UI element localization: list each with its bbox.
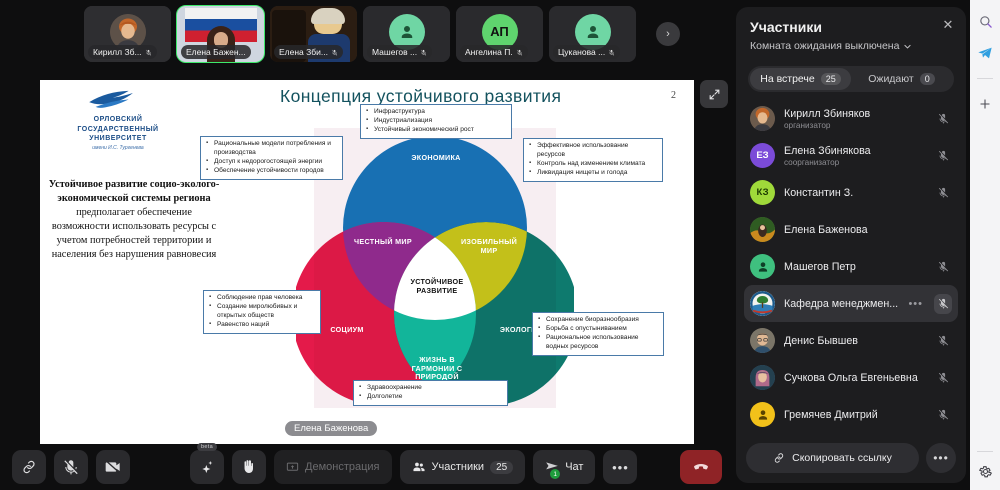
participant-row[interactable]: Сучкова Ольга Евгеньевна: [744, 359, 958, 396]
thumbnail-name-chip: Елена Бажен...: [181, 45, 251, 59]
tab-in-meeting-count: 25: [821, 73, 841, 85]
participant-mic-status[interactable]: [934, 187, 952, 198]
hand-icon: [241, 459, 257, 475]
participant-info: Гремячев Дмитрий: [784, 409, 925, 421]
participant-mic-status[interactable]: [934, 335, 952, 346]
logo-line-3: УНИВЕРСИТЕТ: [58, 134, 178, 144]
beta-badge: beta: [197, 443, 217, 451]
participant-info: Машегов Петр: [784, 261, 925, 273]
participant-info: Сучкова Ольга Евгеньевна: [784, 372, 925, 384]
participant-row[interactable]: Елена Баженова: [744, 211, 958, 248]
copy-link-label: Скопировать ссылку: [792, 452, 892, 464]
plus-glyph-icon: [978, 97, 992, 111]
participant-role: соорганизатор: [784, 158, 925, 167]
participants-button[interactable]: Участники 25: [400, 450, 526, 484]
telegram-glyph-icon: [977, 45, 993, 61]
screen-share-button[interactable]: Демонстрация: [274, 450, 392, 484]
bullet-list: Сохранение биоразнообразия Борьба с опус…: [537, 316, 659, 351]
avatar: [750, 217, 775, 242]
slide-box-society-bottom: Соблюдение прав человека Создание миролю…: [203, 290, 321, 334]
thumbnail-tile-active[interactable]: Елена Бажен...: [177, 6, 264, 62]
search-glyph-icon: [978, 14, 993, 29]
logo-line-4: имени И.С. Тургенева: [58, 145, 178, 151]
slide-left-text-bold: Устойчивое развитие социо-эколого-эконом…: [49, 179, 220, 204]
link-icon: [773, 452, 785, 464]
participants-panel-footer: Скопировать ссылку •••: [736, 435, 966, 483]
bullet-item: Устойчивый экономический рост: [365, 126, 507, 135]
participant-role: организатор: [784, 121, 925, 130]
photo-woman-icon: [750, 365, 775, 390]
link-icon: [21, 459, 37, 475]
participant-row[interactable]: Денис Бывшев: [744, 322, 958, 359]
logo-line-1: ОРЛОВСКИЙ: [58, 115, 178, 125]
thumbnail-tile[interactable]: Машегов ...: [363, 6, 450, 62]
tab-waiting[interactable]: Ожидают 0: [851, 68, 952, 90]
thumbnail-name-chip: Машегов ...: [367, 45, 432, 59]
thumbnail-name-chip: Ангелина П.: [460, 45, 528, 59]
participant-row[interactable]: КЗ Константин З.: [744, 174, 958, 211]
search-icon[interactable]: [976, 12, 994, 30]
logo-line-2: ГОСУДАРСТВЕННЫЙ: [58, 125, 178, 135]
hangup-icon: [692, 458, 710, 476]
participant-mic-status[interactable]: [934, 409, 952, 420]
thumbnail-name: Елена Зби...: [279, 47, 328, 57]
tab-waiting-label: Ожидают: [868, 73, 913, 85]
participant-info: Денис Бывшев: [784, 335, 925, 347]
presentation-stage: ОРЛОВСКИЙ ГОСУДАРСТВЕННЫЙ УНИВЕРСИТЕТ им…: [0, 68, 736, 444]
participant-info: Елена Збинякова соорганизатор: [784, 145, 925, 167]
bullet-item: Доступ к недорогостоящей энергии: [205, 158, 338, 167]
mic-off-icon: [938, 372, 949, 383]
person-icon: [398, 23, 416, 41]
tab-waiting-count: 0: [920, 73, 935, 85]
avatar: [750, 291, 775, 316]
avatar: [750, 365, 775, 390]
panel-more-button[interactable]: •••: [926, 443, 956, 473]
participant-name: Елена Баженова: [784, 224, 925, 236]
participant-mic-status[interactable]: [934, 261, 952, 272]
participant-info: Кафедра менеджмен...: [784, 298, 899, 310]
participants-panel-header: Участники Комната ожидания выключена ✕: [736, 7, 966, 58]
thumbnail-name-chip: Елена Зби...: [274, 45, 343, 59]
tab-in-meeting[interactable]: На встрече 25: [750, 68, 851, 90]
copy-link-button[interactable]: Скопировать ссылку: [746, 443, 919, 473]
bullet-item: Здравоохранение: [358, 384, 503, 393]
slide-box-society-left: Рациональные модели потребления и произв…: [200, 136, 343, 180]
chat-button[interactable]: 1 Чат: [533, 450, 595, 484]
slide-box-economy-top: Инфраструктура Индустриализация Устойчив…: [360, 104, 512, 139]
participant-mic-status[interactable]: [934, 150, 952, 161]
venn-label-economy: ЭКОНОМИКА: [401, 154, 471, 163]
gear-icon[interactable]: [976, 462, 994, 480]
bullet-list: Эффективное использование ресурсов Контр…: [528, 142, 658, 177]
rail-divider: [977, 451, 993, 452]
bullet-item: Эффективное использование ресурсов: [528, 142, 658, 159]
expand-fullscreen-button[interactable]: [700, 80, 728, 108]
venn-label-center: УСТОЙЧИВОЕ РАЗВИТИЕ: [397, 278, 477, 295]
mic-off-icon: [63, 459, 79, 475]
emblem-tree-icon: [750, 291, 775, 316]
thumbnail-tile[interactable]: АП Ангелина П.: [456, 6, 543, 62]
sparkle-icon: [199, 459, 215, 475]
telegram-icon[interactable]: [976, 44, 994, 62]
participant-mic-status[interactable]: [934, 113, 952, 124]
thumbnail-name-chip: Кирилл Зб...: [88, 45, 157, 59]
thumbnail-name: Елена Бажен...: [186, 47, 246, 57]
panel-title: Участники: [750, 19, 952, 35]
chevron-down-icon: [903, 42, 912, 51]
participant-name: Гремячев Дмитрий: [784, 409, 925, 421]
bullet-list: Рациональные модели потребления и произв…: [205, 140, 338, 175]
bullet-list: Инфраструктура Индустриализация Устойчив…: [365, 108, 507, 135]
participant-row[interactable]: Гремячев Дмитрий: [744, 396, 958, 433]
participant-name: Константин З.: [784, 187, 925, 199]
venn-label-abundant-world: ИЗОБИЛЬНЫЙ МИР: [458, 238, 520, 255]
meeting-control-bar: beta Демонстрация Участники 25 1: [0, 444, 736, 490]
shared-slide: ОРЛОВСКИЙ ГОСУДАРСТВЕННЫЙ УНИВЕРСИТЕТ им…: [40, 80, 694, 444]
bullet-item: Рациональные модели потребления и произв…: [205, 140, 338, 157]
app-root: Кирилл Зб... Елена Бажен...: [0, 0, 1000, 490]
participant-info: Елена Баженова: [784, 224, 925, 236]
photo-nature-icon: [750, 217, 775, 242]
tab-in-meeting-label: На встрече: [760, 73, 815, 85]
avatar: [750, 328, 775, 353]
avatar: [750, 254, 775, 279]
active-speaker-chip: Елена Баженова: [285, 421, 377, 436]
screen-share-label: Демонстрация: [305, 461, 380, 473]
bullet-item: Инфраструктура: [365, 108, 507, 117]
bullet-item: Индустриализация: [365, 117, 507, 126]
avatar-initials: КЗ: [750, 180, 775, 205]
participant-info: Кирилл Збиняков организатор: [784, 108, 925, 130]
slide-page-number: 2: [671, 90, 676, 101]
mic-off-icon: [331, 49, 338, 56]
avatar-initials-text: АП: [490, 24, 509, 39]
slide-left-text: Устойчивое развитие социо-эколого-эконом…: [48, 178, 220, 262]
participants-tabs: На встрече 25 Ожидают 0: [748, 66, 954, 92]
participant-row[interactable]: ЕЗ Елена Збинякова соорганизатор: [744, 137, 958, 174]
participants-icon: [412, 460, 426, 474]
bullet-item: Контроль над изменением климата: [528, 160, 658, 169]
bullet-item: Соблюдение прав человека: [208, 294, 316, 303]
bullet-item: Равенство наций: [208, 321, 316, 330]
bullet-item: Борьба с опустыниванием: [537, 325, 659, 334]
participants-list[interactable]: Кирилл Збиняков организатор ЕЗ Елена Зби…: [736, 98, 966, 435]
close-panel-button[interactable]: ✕: [940, 17, 956, 33]
screen-share-icon: [286, 461, 299, 474]
participant-info: Константин З.: [784, 187, 925, 199]
avatar-initials: ЕЗ: [750, 143, 775, 168]
mic-off-icon: [420, 49, 427, 56]
participant-thumbnail-strip: Кирилл Зб... Елена Бажен...: [0, 0, 736, 68]
leave-meeting-button[interactable]: [680, 450, 722, 484]
participant-name: Денис Бывшев: [784, 335, 925, 347]
venn-label-fair-world: ЧЕСТНЫЙ МИР: [354, 238, 412, 247]
waiting-room-status[interactable]: Комната ожидания выключена: [750, 40, 952, 52]
venn-label-society: СОЦИУМ: [314, 326, 380, 335]
participant-more-button[interactable]: •••: [908, 298, 923, 310]
rail-divider: [977, 78, 993, 79]
thumbnail-name: Кирилл Зб...: [93, 47, 142, 57]
mic-off-icon: [938, 113, 949, 124]
thumbnail-name: Ангелина П.: [465, 47, 513, 57]
participant-name: Кафедра менеджмен...: [784, 298, 899, 310]
slide-box-economy-right: Эффективное использование ресурсов Контр…: [523, 138, 663, 182]
participant-mic-status[interactable]: [934, 294, 952, 314]
copy-link-button[interactable]: [12, 450, 46, 484]
bullet-list: Здравоохранение Долголетие: [358, 384, 503, 402]
avatar: [750, 402, 775, 427]
participant-row-highlighted[interactable]: Кафедра менеджмен... •••: [744, 285, 958, 322]
meeting-area: Кирилл Зб... Елена Бажен...: [0, 0, 736, 490]
slide-left-text-rest: предполагает обеспечение возможности исп…: [52, 207, 217, 260]
camera-off-icon: [105, 459, 121, 475]
chat-label: Чат: [565, 461, 583, 473]
participants-count: 25: [490, 461, 513, 474]
thumbnail-tile[interactable]: Цуканова ...: [549, 6, 636, 62]
mic-off-icon: [516, 49, 523, 56]
thumbnail-name: Машегов ...: [372, 47, 417, 57]
person-icon: [756, 260, 770, 274]
waiting-room-label: Комната ожидания выключена: [750, 40, 899, 52]
mic-off-icon: [938, 409, 949, 420]
thumbnail-tile[interactable]: Елена Зби...: [270, 6, 357, 62]
camera-toggle-button[interactable]: [96, 450, 130, 484]
mic-off-icon: [608, 49, 615, 56]
thumbnail-name-chip: Цуканова ...: [553, 45, 620, 59]
center-control-group: beta Демонстрация Участники 25 1: [190, 450, 645, 484]
avatar: [750, 106, 775, 131]
participant-name: Елена Збинякова: [784, 145, 925, 157]
participant-row[interactable]: Кирилл Збиняков организатор: [744, 100, 958, 137]
participant-name: Сучкова Ольга Евгеньевна: [784, 372, 925, 384]
bullet-list: Соблюдение прав человека Создание миролю…: [208, 294, 316, 329]
person-icon: [584, 23, 602, 41]
bullet-item: Рациональное использование водных ресурс…: [537, 334, 659, 351]
person-icon: [756, 408, 770, 422]
thumbnail-next-button[interactable]: ›: [656, 22, 680, 46]
participant-row[interactable]: Машегов Петр: [744, 248, 958, 285]
participants-panel: Участники Комната ожидания выключена ✕ Н…: [736, 7, 966, 483]
participant-mic-status[interactable]: [934, 372, 952, 383]
participant-name: Кирилл Збиняков: [784, 108, 925, 120]
rail-bottom-group: [970, 449, 1000, 490]
university-logo: ОРЛОВСКИЙ ГОСУДАРСТВЕННЫЙ УНИВЕРСИТЕТ им…: [58, 88, 178, 151]
avatar-initials-text: КЗ: [756, 187, 768, 198]
mic-off-icon: [938, 298, 949, 309]
raise-hand-button[interactable]: [232, 450, 266, 484]
bullet-item: Создание миролюбивых и открытых обществ: [208, 303, 316, 320]
effects-button[interactable]: beta: [190, 450, 224, 484]
participant-name: Машегов Петр: [784, 261, 925, 273]
bullet-item: Ликвидация нищеты и голода: [528, 169, 658, 178]
slide-box-ecology-bottom: Сохранение биоразнообразия Борьба с опус…: [532, 312, 664, 356]
right-icon-rail: [970, 0, 1000, 490]
bullet-item: Обеспечение устойчивости городов: [205, 167, 338, 176]
avatar-initials-text: ЕЗ: [756, 150, 768, 161]
gear-glyph-icon: [978, 464, 993, 479]
ogu-bird-icon: [86, 88, 150, 114]
venn-label-life-in-harmony: ЖИЗНЬ В ГАРМОНИИ С ПРИРОДОЙ: [399, 356, 475, 382]
chat-unread-badge: 1: [550, 469, 560, 479]
bullet-item: Долголетие: [358, 393, 503, 402]
mic-off-icon: [938, 150, 949, 161]
photo-male-red-icon: [750, 106, 775, 131]
mic-off-icon: [938, 261, 949, 272]
bullet-item: Сохранение биоразнообразия: [537, 316, 659, 325]
plus-icon[interactable]: [976, 95, 994, 113]
microphone-toggle-button[interactable]: [54, 450, 88, 484]
more-options-button[interactable]: •••: [603, 450, 637, 484]
mic-off-icon: [938, 187, 949, 198]
thumbnail-name: Цуканова ...: [558, 47, 605, 57]
expand-icon: [708, 88, 721, 101]
more-dots-icon: •••: [612, 461, 629, 474]
participants-label: Участники: [432, 461, 485, 473]
photo-male-glasses-icon: [750, 328, 775, 353]
mic-off-icon: [145, 49, 152, 56]
mic-off-icon: [938, 335, 949, 346]
thumbnail-tile[interactable]: Кирилл Зб...: [84, 6, 171, 62]
slide-box-health-bottom: Здравоохранение Долголетие: [353, 380, 508, 406]
